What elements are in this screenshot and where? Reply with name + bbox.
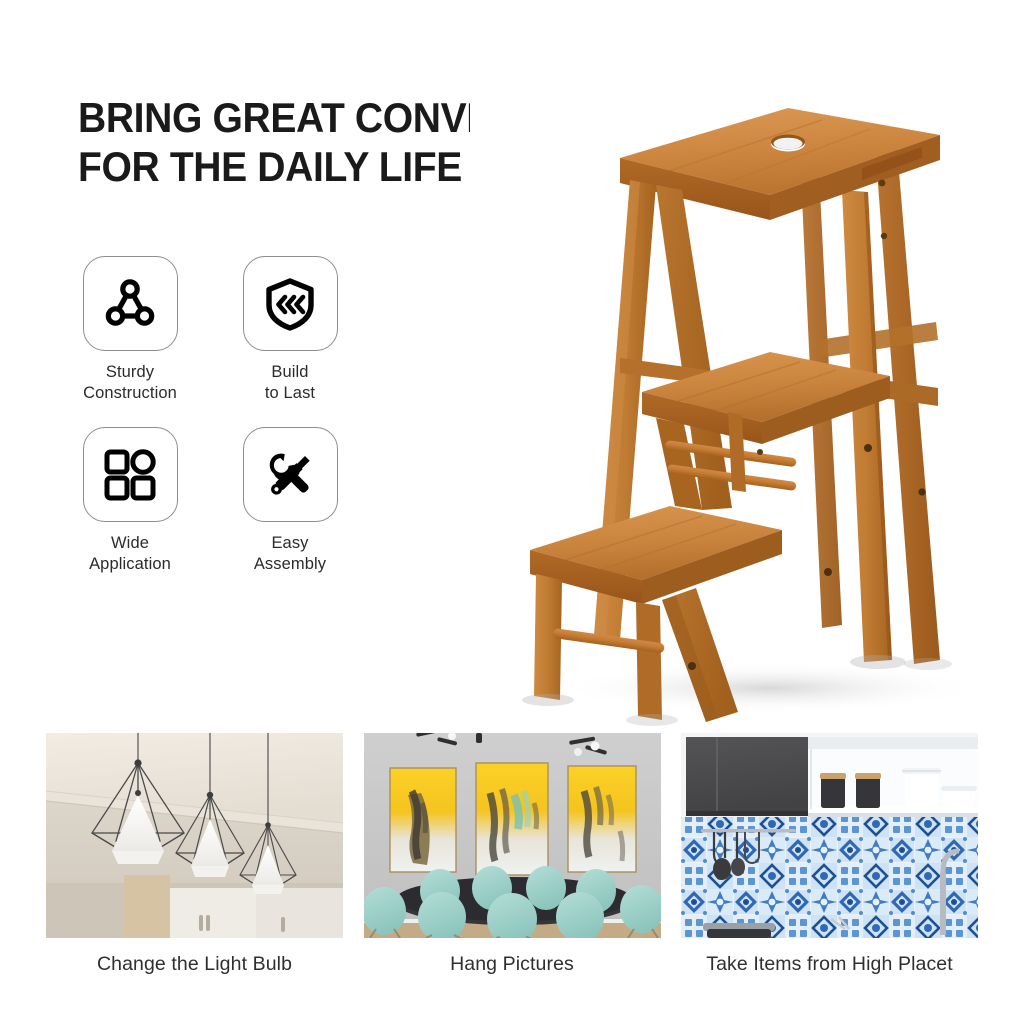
feature-label-line-1: Sturdy bbox=[75, 362, 185, 383]
caption-hang-pictures: Hang Pictures bbox=[364, 953, 661, 976]
wrench-screwdriver-icon bbox=[261, 446, 319, 504]
feature-label-line-1: Easy bbox=[235, 533, 345, 554]
feature-label-line-1: Build bbox=[235, 362, 345, 383]
pendant-lights-photo bbox=[46, 733, 343, 938]
wall-art-dining-photo bbox=[364, 733, 661, 938]
feature-list: Sturdy Construction Build to Last bbox=[75, 256, 365, 575]
shield-chevrons-icon bbox=[261, 275, 319, 333]
use-case-photo-strip bbox=[46, 733, 978, 938]
feature-label-line-2: Assembly bbox=[235, 554, 345, 575]
feature-label-line-2: to Last bbox=[235, 383, 345, 404]
feature-icon-box bbox=[243, 256, 338, 351]
feature-icon-box bbox=[243, 427, 338, 522]
product-feature-infographic: BRING GREAT CONVENIENCE FOR THE DAILY LI… bbox=[0, 0, 1024, 1024]
feature-item-build-to-last: Build to Last bbox=[235, 256, 345, 403]
product-image-step-stool bbox=[470, 40, 1015, 730]
caption-take-items-high-place: Take Items from High Placet bbox=[681, 953, 978, 976]
kitchen-tiles-photo bbox=[681, 733, 978, 938]
headline-line-1: BRING GREAT CONVENIENCE bbox=[78, 94, 515, 143]
triangle-nodes-icon bbox=[101, 275, 159, 333]
feature-item-wide-application: Wide Application bbox=[75, 427, 185, 574]
feature-icon-box bbox=[83, 427, 178, 522]
feature-label: Build to Last bbox=[235, 362, 345, 403]
feature-label-line-2: Construction bbox=[75, 383, 185, 404]
feature-item-easy-assembly: Easy Assembly bbox=[235, 427, 345, 574]
feature-label: Sturdy Construction bbox=[75, 362, 185, 403]
feature-label-line-2: Application bbox=[75, 554, 185, 575]
caption-change-light-bulb: Change the Light Bulb bbox=[46, 953, 343, 976]
headline-line-2: FOR THE DAILY LIFE bbox=[78, 143, 515, 192]
feature-icon-box bbox=[83, 256, 178, 351]
feature-label: Wide Application bbox=[75, 533, 185, 574]
photo-captions: Change the Light Bulb Hang Pictures Take… bbox=[46, 953, 978, 976]
feature-item-sturdy-construction: Sturdy Construction bbox=[75, 256, 185, 403]
feature-label-line-1: Wide bbox=[75, 533, 185, 554]
page-title: BRING GREAT CONVENIENCE FOR THE DAILY LI… bbox=[78, 94, 515, 191]
grid-shapes-icon bbox=[102, 447, 158, 503]
feature-label: Easy Assembly bbox=[235, 533, 345, 574]
